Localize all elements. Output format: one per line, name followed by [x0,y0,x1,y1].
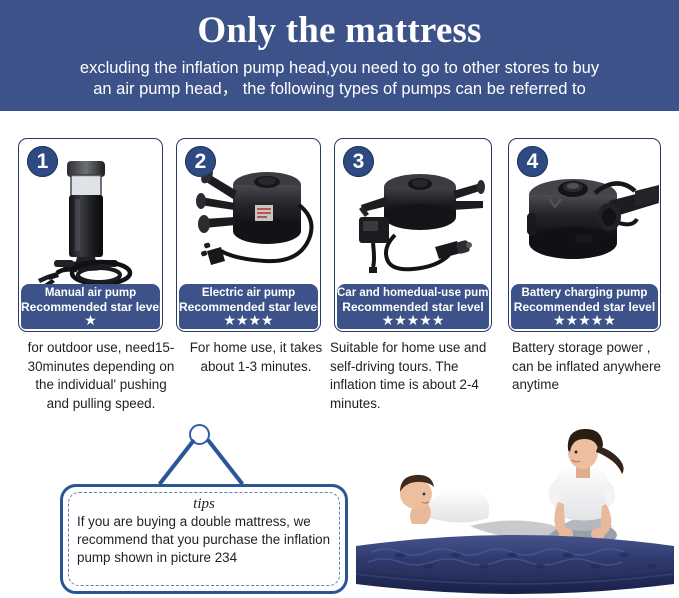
hanging-rope-left [158,439,196,486]
card-description-2: For home use, it takes about 1-3 minutes… [186,339,326,376]
tips-sign: tips If you are buying a double mattress… [60,424,350,598]
card-star-rating-4: ★★★★★ [511,313,658,328]
card-description-1: for outdoor use, need15-30minutes depend… [26,339,176,413]
card-star-rating-1: ★ [21,313,160,328]
card-label-2: Electric air pump Recommended star level… [179,284,318,329]
card-number-badge-1: 1 [27,146,58,177]
card-label-name-4: Battery charging pump [511,286,658,300]
header-banner: Only the mattress excluding the inflatio… [0,0,679,111]
card-label-name-3: Car and homedual-use pump [337,286,489,300]
header-subtitle-line-1: excluding the inflation pump head,you ne… [0,58,679,79]
card-description-3: Suitable for home use and self-driving t… [330,339,495,413]
card-label-3: Car and homedual-use pump Recommended st… [337,284,489,329]
card-description-4: Battery storage power , can be inflated … [512,339,672,395]
pump-card-2[interactable]: 2 [176,138,321,332]
card-label-1: Manual air pump Recommended star level ★ [21,284,160,329]
tips-board-inner: tips If you are buying a double mattress… [68,492,340,586]
card-star-rating-3: ★★★★★ [337,313,489,328]
pump-card-4[interactable]: 4 [508,138,661,332]
tips-hanger [138,424,268,492]
card-number-badge-4: 4 [517,146,548,177]
card-label-name-1: Manual air pump [21,286,160,300]
couple-on-air-mattress-photo [352,424,679,598]
tips-heading: tips [77,496,331,513]
header-subtitle-line-2: an air pump head， the following types of… [0,79,679,100]
hanging-rope-right [206,439,244,486]
card-label-name-2: Electric air pump [179,286,318,300]
pump-card-1[interactable]: 1 [18,138,163,332]
tips-board: tips If you are buying a double mattress… [60,484,348,594]
pump-card-3[interactable]: 3 [334,138,492,332]
pump-cards-row: 1 [0,138,679,334]
page-title: Only the mattress [0,0,679,49]
card-star-rating-2: ★★★★ [179,313,318,328]
card-descriptions-row: for outdoor use, need15-30minutes depend… [0,339,679,419]
card-number-badge-3: 3 [343,146,374,177]
card-number-badge-2: 2 [185,146,216,177]
tips-body: If you are buying a double mattress, we … [77,513,331,567]
card-label-4: Battery charging pump Recommended star l… [511,284,658,329]
